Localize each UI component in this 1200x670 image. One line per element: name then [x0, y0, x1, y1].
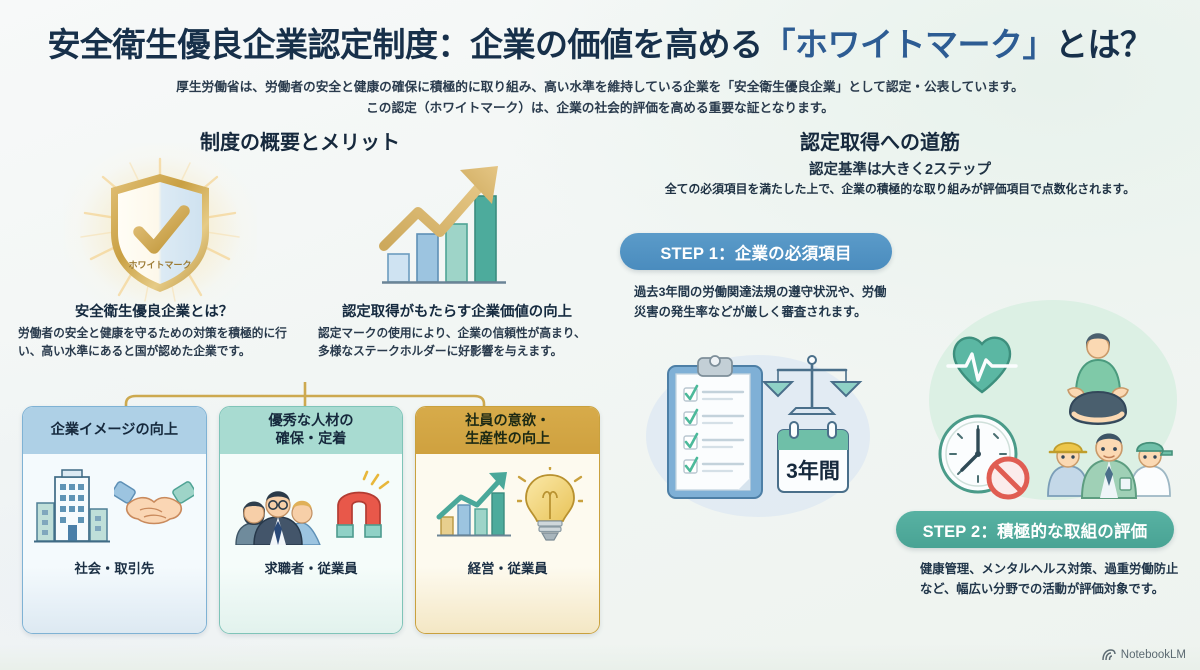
- office-building-icon: [34, 465, 110, 547]
- benefit-cards: 企業イメージの向上: [22, 406, 600, 634]
- benefit-card-3-footer: 経営・従業員: [416, 558, 599, 592]
- right-sub-headline: 認定基準は大きく2ステップ: [700, 158, 1100, 179]
- blurb-definition-heading: 安全衛生優良企業とは？: [18, 300, 290, 321]
- header-subtitle-line-1: 厚生労働省は、労働者の安全と健康の確保に積極的に取り組み、高い水準を維持している…: [0, 77, 1200, 98]
- benefit-card-3-art: [416, 454, 599, 558]
- blurb-value-heading: 認定取得がもたらす企業価値の向上: [318, 300, 596, 321]
- footer-band: [0, 644, 1200, 670]
- page-title: 安全衛生優良企業認定制度：企業の価値を高める「ホワイトマーク」とは？: [0, 18, 1200, 66]
- blurb-definition-body: 労働者の安全と健康を守るための対策を積極的に行い、高い水準にあると国が認めた企業…: [18, 325, 290, 361]
- benefit-card-1-body: 社会・取引先: [23, 454, 206, 633]
- header-subtitle-line-2: この認定（ホワイトマーク）は、企業の社会的評価を高める重要な証となります。: [0, 98, 1200, 119]
- page-title-highlight: 「ホワイトマーク」: [763, 26, 1056, 63]
- page-title-part-2: とは？: [1055, 26, 1153, 63]
- benefit-card-company-image[interactable]: 企業イメージの向上: [22, 406, 207, 634]
- header-subtitle: 厚生労働省は、労働者の安全と健康の確保に積極的に取り組み、高い水準を維持している…: [0, 77, 1200, 118]
- blurb-value: 認定取得がもたらす企業価値の向上 認定マークの使用により、企業の信頼性が高まり、…: [318, 300, 596, 361]
- benefit-card-motivation[interactable]: 社員の意欲・ 生産性の向上: [415, 406, 600, 634]
- benefit-card-2-title-line-1: 優秀な人材の: [268, 413, 353, 429]
- benefit-card-1-title: 企業イメージの向上: [23, 407, 206, 454]
- step-1-pill[interactable]: STEP 1：企業の必須項目: [620, 233, 892, 270]
- right-sub-body: 全ての必須項目を満たした上で、企業の積極的な取り組みが評価項目で点数化されます。: [640, 180, 1160, 198]
- benefit-card-3-title: 社員の意欲・ 生産性の向上: [416, 407, 599, 454]
- handshake-icon: [114, 471, 194, 541]
- step-2-pill[interactable]: STEP 2：積極的な取組の評価: [896, 511, 1174, 548]
- shield-badge-label: ホワイトマーク: [128, 260, 191, 270]
- workers-group-icon: [1048, 434, 1172, 499]
- footer: NotebookLM: [1102, 649, 1186, 661]
- step-2-illustration: [908, 296, 1190, 508]
- benefit-card-1-art: [23, 454, 206, 558]
- header: 安全衛生優良企業認定制度：企業の価値を高める「ホワイトマーク」とは？ 厚生労働省…: [0, 18, 1200, 118]
- notebooklm-logo-icon: [1102, 649, 1116, 661]
- magnet-icon: [328, 470, 390, 542]
- benefit-card-3-title-line-2: 生産性の向上: [465, 431, 550, 447]
- infographic-page: 安全衛生優良企業認定制度：企業の価値を高める「ホワイトマーク」とは？ 厚生労働省…: [0, 0, 1200, 670]
- calendar-label: 3年間: [786, 459, 840, 483]
- right-section-title: 認定取得への道筋: [700, 126, 1060, 155]
- footer-brand: NotebookLM: [1121, 649, 1186, 661]
- page-title-part-1: 安全衛生優良企業認定制度：企業の価値を高める: [48, 26, 763, 63]
- benefit-card-3-body: 経営・従業員: [416, 454, 599, 633]
- step-1-illustration: 3年間: [646, 352, 876, 517]
- benefit-card-talent[interactable]: 優秀な人材の 確保・定着: [219, 406, 404, 634]
- benefit-card-2-footer: 求職者・従業員: [220, 558, 403, 592]
- benefit-card-2-title: 優秀な人材の 確保・定着: [220, 407, 403, 454]
- growth-arrow-chart-icon: [370, 158, 520, 298]
- calendar-icon: 3年間: [778, 422, 848, 492]
- benefit-card-2-body: 求職者・従業員: [220, 454, 403, 633]
- growth-chart-icon: [433, 469, 513, 543]
- benefit-card-2-title-line-2: 確保・定着: [276, 431, 347, 447]
- blurb-definition: 安全衛生優良企業とは？ 労働者の安全と健康を守るための対策を積極的に行い、高い水…: [18, 300, 290, 361]
- white-mark-shield-illustration: ホワイトマーク: [75, 155, 245, 305]
- shield-icon: ホワイトマーク: [105, 171, 215, 295]
- people-group-icon: [232, 467, 324, 545]
- step-1-body: 過去3年間の労働関達法規の遵守状況や、労働災害の発生率などが厳しく審査されます。: [634, 283, 896, 322]
- lightbulb-icon: [517, 467, 583, 545]
- benefit-card-3-title-line-1: 社員の意欲・: [465, 413, 550, 429]
- step-2-body: 健康管理、メンタルヘルス対策、過重労働防止など、幅広い分野での活動が評価対象です…: [920, 560, 1182, 599]
- blurb-value-body: 認定マークの使用により、企業の信頼性が高まり、多様なステークホルダーに好影響を与…: [318, 325, 596, 361]
- benefit-card-1-footer: 社会・取引先: [23, 558, 206, 592]
- benefit-card-2-art: [220, 454, 403, 558]
